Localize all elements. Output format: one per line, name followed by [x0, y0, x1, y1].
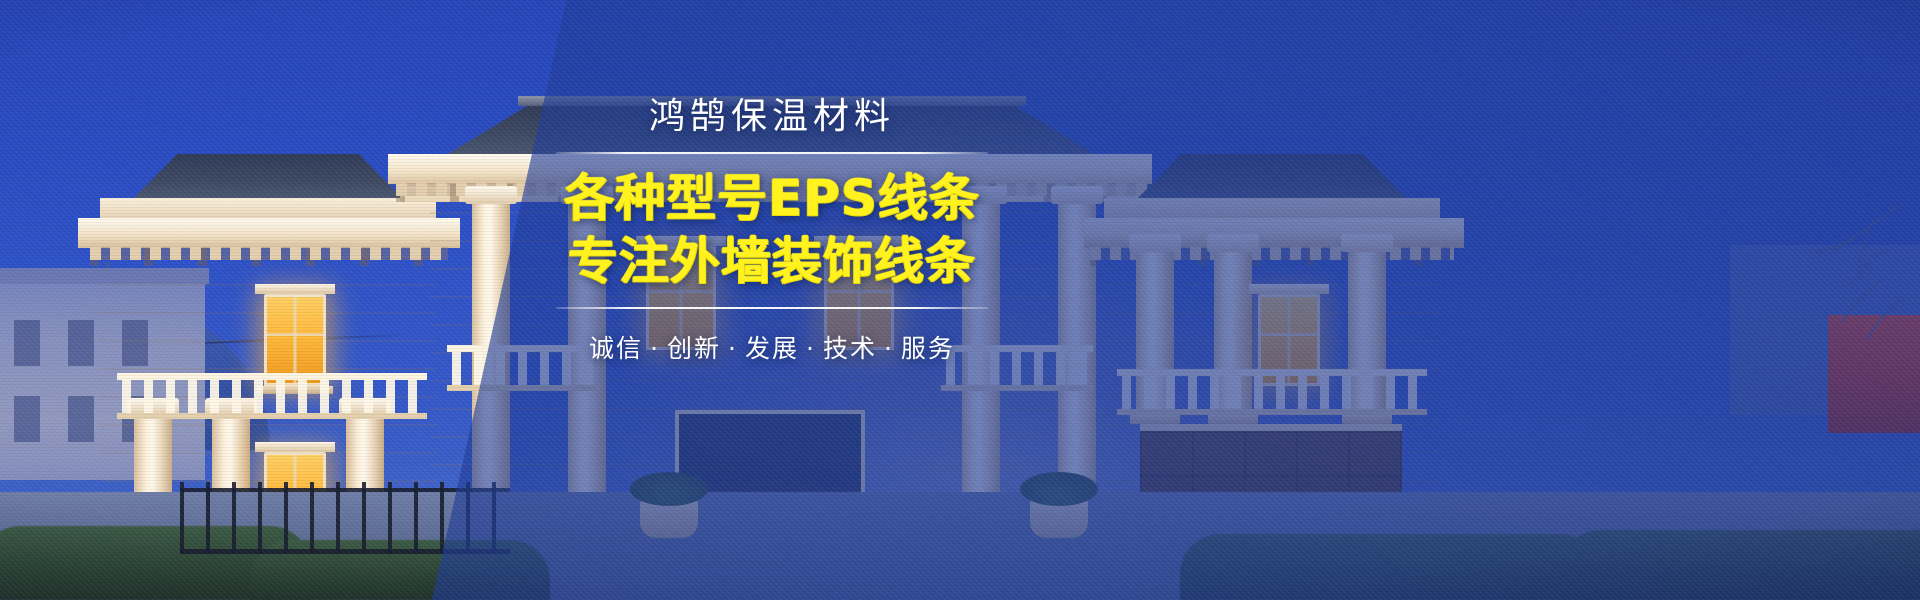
- tagline-separator: ·: [728, 334, 738, 363]
- hedge: [1180, 534, 1600, 600]
- tagline: 诚信·创新·发展·技术·服务: [556, 329, 988, 365]
- balustrade: [1122, 376, 1422, 410]
- window-hood: [1249, 284, 1329, 294]
- tagline-item: 技术: [823, 334, 877, 363]
- planter: [1030, 498, 1088, 538]
- tagline-separator: ·: [884, 334, 894, 363]
- brand-name: 鸿鹄保温材料: [556, 96, 988, 138]
- left-wing-cornice: [78, 218, 460, 248]
- headline-line-1: 各种型号EPS线条: [556, 170, 988, 227]
- distant-window: [68, 320, 94, 366]
- divider-bottom: [556, 307, 988, 309]
- distant-window: [14, 320, 40, 366]
- planter: [640, 498, 698, 538]
- tagline-item: 发展: [745, 334, 799, 363]
- window-hood: [255, 284, 335, 294]
- balustrade: [122, 380, 422, 414]
- window-transom: [267, 333, 323, 336]
- window-mullion: [294, 297, 297, 383]
- tagline-separator: ·: [806, 334, 816, 363]
- window-transom: [1261, 333, 1317, 336]
- left-wing-attic: [100, 198, 436, 220]
- tagline-separator: ·: [650, 334, 660, 363]
- divider-top: [556, 152, 988, 154]
- headline-line-2: 专注外墙装饰线条: [556, 233, 988, 290]
- tagline-item: 创新: [667, 334, 721, 363]
- left-wing-roof: [106, 154, 430, 200]
- window-hood: [255, 442, 335, 452]
- right-wing-roof: [1110, 154, 1434, 200]
- tagline-item: 诚信: [589, 334, 643, 363]
- distant-window: [14, 396, 40, 442]
- tree-branch-icon: [1762, 196, 1902, 346]
- tagline-item: 服务: [901, 334, 955, 363]
- distant-window: [68, 396, 94, 442]
- window-transom: [649, 290, 713, 293]
- window-transom: [827, 290, 891, 293]
- hedge: [1560, 530, 1920, 600]
- left-wing-dentils: [90, 247, 448, 260]
- right-wing-attic: [1104, 198, 1440, 220]
- banner-stage: 鸿鹄保温材料 各种型号EPS线条 专注外墙装饰线条 诚信·创新·发展·技术·服务: [0, 0, 1920, 600]
- iron-fence: [180, 482, 510, 554]
